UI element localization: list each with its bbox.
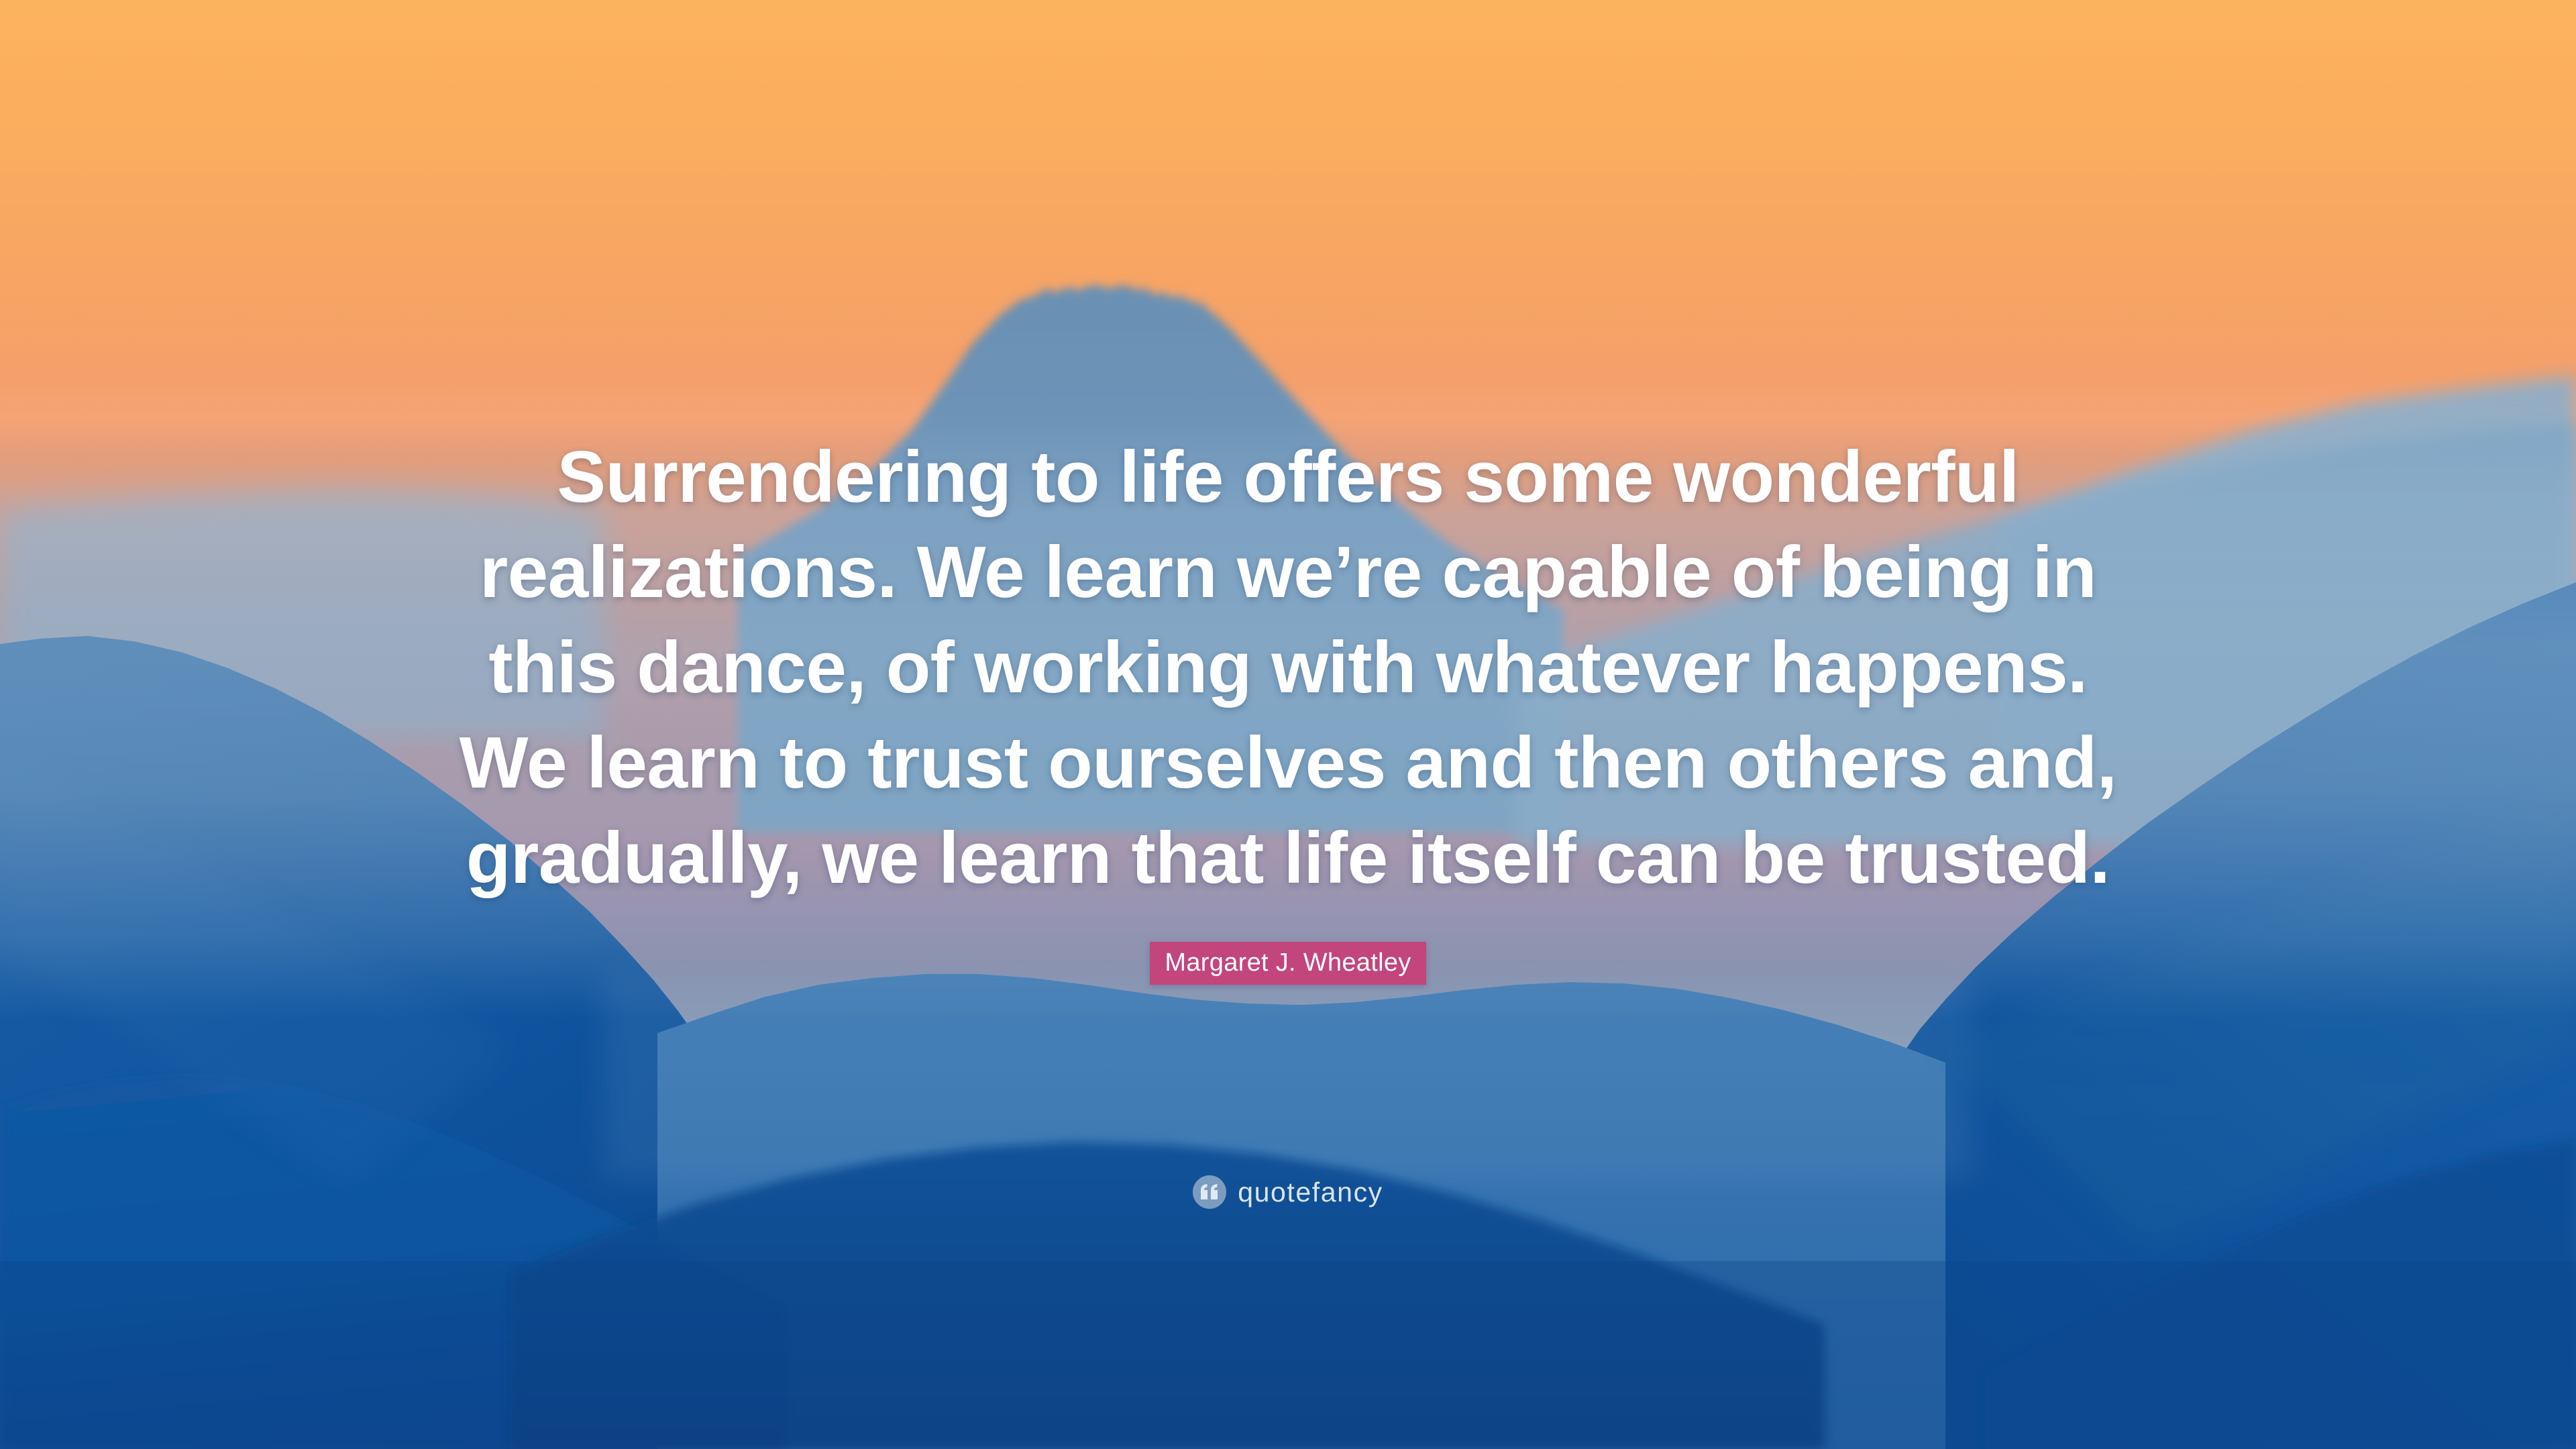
double-quote-icon (1193, 1175, 1226, 1209)
valley-haze (604, 973, 1972, 1181)
quotefancy-brand[interactable]: quotefancy (0, 1175, 2576, 1209)
quote-text: Surrendering to life offers some wonderf… (439, 429, 2137, 906)
bottom-vignette (0, 1261, 2576, 1449)
quote-block: Surrendering to life offers some wonderf… (0, 429, 2576, 985)
author-attribution-badge: Margaret J. Wheatley (1150, 942, 1426, 985)
quotefancy-wordmark: quotefancy (1238, 1177, 1383, 1208)
quote-poster: Surrendering to life offers some wonderf… (0, 0, 2576, 1449)
